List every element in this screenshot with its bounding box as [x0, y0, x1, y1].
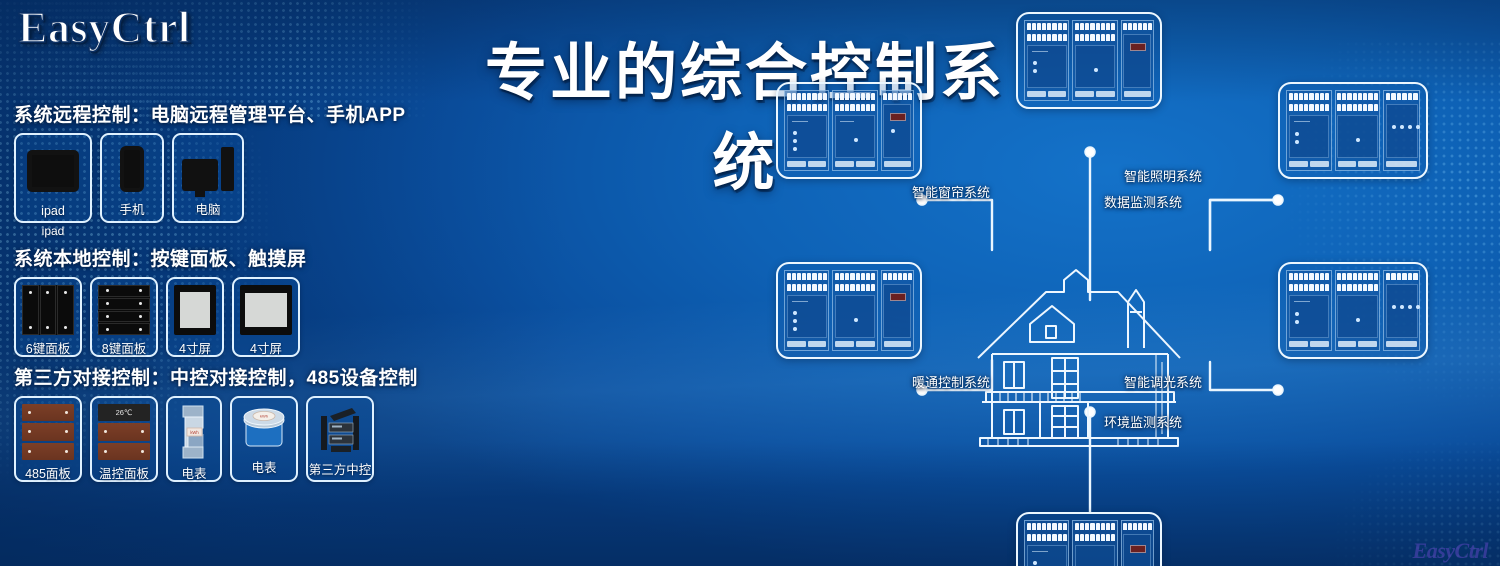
card-row-third-party: 485面板 26℃ 温控面板 — [0, 396, 440, 482]
rs485-panel-icon — [22, 404, 74, 460]
device-card-4inch-screen-2[interactable]: 4寸屏 — [232, 277, 300, 357]
controller-box-curtain[interactable] — [776, 82, 922, 179]
controller-module-icon — [784, 90, 829, 171]
controller-module-icon — [1286, 90, 1332, 171]
controller-module-icon — [1286, 270, 1332, 351]
node-label-dimming: 智能调光系统 — [1124, 372, 1202, 391]
device-card-label: 8键面板 — [102, 338, 146, 357]
system-topology-diagram: 智能窗帘系统 数据监测系统 — [700, 60, 1500, 566]
device-card-third-party-controller[interactable]: 第三方中控 — [306, 396, 374, 482]
section-title-local-control: 系统本地控制：按键面板、触摸屏 — [0, 244, 440, 271]
controller-box-data[interactable] — [1016, 12, 1162, 109]
device-card-label: 温控面板 — [99, 463, 149, 482]
third-party-controller-icon — [318, 404, 362, 456]
device-card-label: 电脑 — [195, 199, 220, 218]
controller-module-icon — [881, 270, 914, 351]
device-card-energy-meter-1[interactable]: kWh 电表 — [166, 396, 222, 482]
device-card-label: 485面板 — [25, 463, 71, 482]
card-row-local-control: 6键面板 8键面板 4寸屏 — [0, 277, 440, 357]
thermostat-temperature-display: 26℃ — [98, 404, 150, 421]
controller-box-lighting[interactable] — [1278, 82, 1428, 179]
device-card-label: ipad — [41, 204, 65, 218]
smartphone-icon — [120, 141, 144, 196]
round-energy-meter-icon: kWh — [240, 404, 288, 454]
device-card-label: 4寸屏 — [250, 338, 282, 357]
section-title-remote-control: 系统远程控制：电脑远程管理平台、手机APP — [0, 100, 440, 127]
controller-box-hvac[interactable] — [776, 262, 922, 359]
device-card-label: 电表 — [181, 463, 206, 482]
tablet-icon — [27, 141, 79, 201]
device-catalog-panel: 系统远程控制：电脑远程管理平台、手机APP ipad 手机 电脑 — [0, 100, 440, 486]
controller-module-icon — [784, 270, 829, 351]
six-key-panel-icon — [22, 285, 74, 335]
controller-module-icon — [1335, 270, 1381, 351]
device-card-label: 手机 — [119, 199, 144, 218]
four-inch-screen-icon — [240, 285, 292, 335]
controller-module-icon — [1072, 520, 1117, 566]
controller-module-icon — [1383, 270, 1420, 351]
energy-meter-icon: kWh — [174, 404, 214, 460]
eight-key-panel-icon — [98, 285, 150, 335]
svg-text:kWh: kWh — [260, 414, 268, 419]
controller-module-icon — [1024, 20, 1069, 101]
controller-module-icon — [1024, 520, 1069, 566]
controller-module-icon — [881, 90, 914, 171]
thermostat-panel-icon: 26℃ — [98, 404, 150, 460]
device-card-pc[interactable]: 电脑 — [172, 133, 244, 223]
desktop-computer-icon — [182, 141, 234, 196]
controller-module-icon — [1121, 520, 1154, 566]
controller-box-dimming[interactable] — [1278, 262, 1428, 359]
device-card-485-panel[interactable]: 485面板 — [14, 396, 82, 482]
controller-module-icon — [1121, 20, 1154, 101]
controller-module-icon — [832, 90, 877, 171]
section-title-third-party: 第三方对接控制：中控对接控制，485设备控制 — [0, 363, 440, 390]
device-card-label: 第三方中控 — [309, 459, 372, 478]
card-row-remote-control: ipad 手机 电脑 — [0, 133, 440, 223]
section-local-control: 系统本地控制：按键面板、触摸屏 6键面板 — [0, 244, 440, 357]
controller-box-environment[interactable] — [1016, 512, 1162, 566]
device-card-label: 6键面板 — [26, 338, 70, 357]
node-label-data: 数据监测系统 — [1104, 192, 1182, 211]
brand-logo: EasyCtrl — [18, 2, 191, 53]
controller-module-icon — [832, 270, 877, 351]
watermark: EasyCtrl — [1413, 538, 1488, 564]
device-card-ipad[interactable]: ipad — [14, 133, 92, 223]
section-remote-control: 系统远程控制：电脑远程管理平台、手机APP ipad 手机 电脑 — [0, 100, 440, 238]
device-card-phone[interactable]: 手机 — [100, 133, 164, 223]
device-card-energy-meter-2[interactable]: kWh 电表 — [230, 396, 298, 482]
device-card-4inch-screen-1[interactable]: 4寸屏 — [166, 277, 224, 357]
device-card-label: 4寸屏 — [179, 338, 211, 357]
device-card-label: 电表 — [251, 457, 276, 476]
node-label-lighting: 智能照明系统 — [1124, 166, 1202, 185]
device-card-thermostat-panel[interactable]: 26℃ 温控面板 — [90, 396, 158, 482]
controller-module-icon — [1072, 20, 1117, 101]
node-label-curtain: 智能窗帘系统 — [912, 182, 990, 201]
node-label-hvac: 暖通控制系统 — [912, 372, 990, 391]
node-label-environment: 环境监测系统 — [1104, 412, 1182, 431]
svg-text:kWh: kWh — [190, 430, 199, 435]
controller-module-icon — [1383, 90, 1420, 171]
controller-module-icon — [1335, 90, 1381, 171]
ipad-sub-label: ipad — [14, 224, 92, 238]
device-card-8key-panel[interactable]: 8键面板 — [90, 277, 158, 357]
device-card-6key-panel[interactable]: 6键面板 — [14, 277, 82, 357]
section-third-party-control: 第三方对接控制：中控对接控制，485设备控制 485面板 26℃ — [0, 363, 440, 482]
four-inch-screen-icon — [174, 285, 216, 335]
